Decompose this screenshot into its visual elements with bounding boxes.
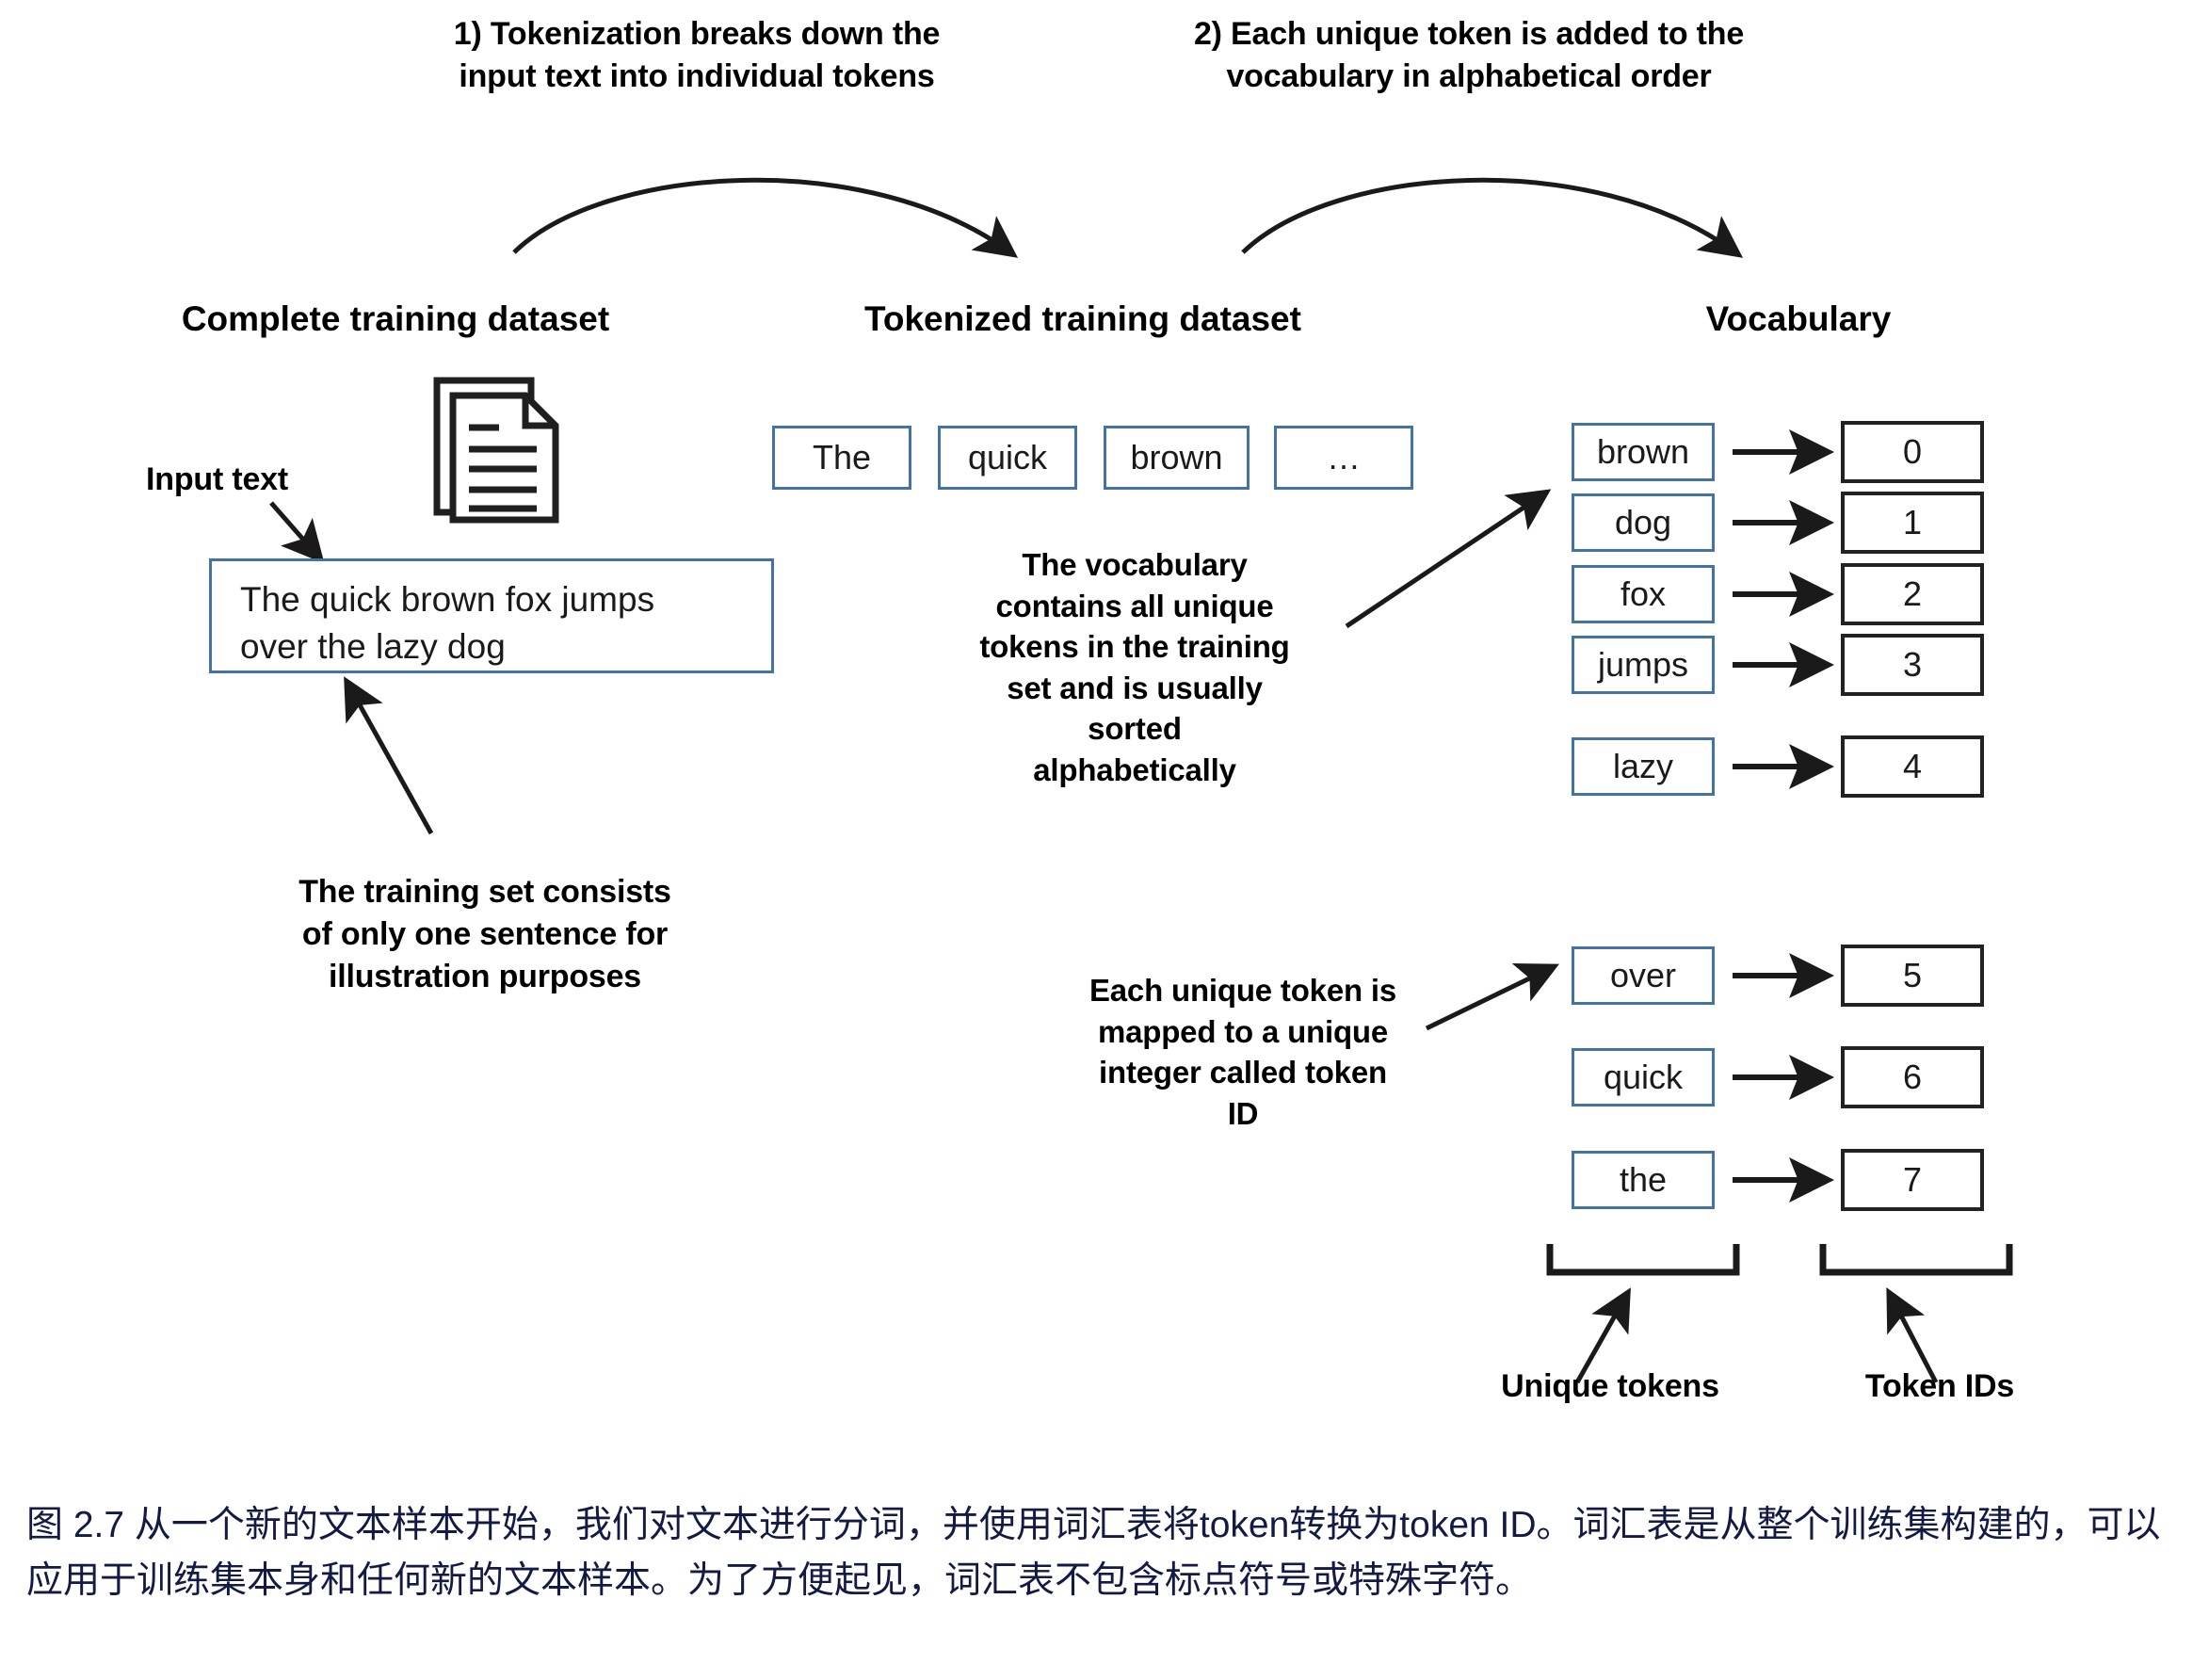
vocab-map-arrow <box>1731 506 1844 540</box>
vocab-map-arrow <box>1731 648 1844 682</box>
vocabulary-note-arrow <box>1332 466 1577 640</box>
token-id-box[interactable]: 0 <box>1841 421 1984 483</box>
token-ids-label: Token IDs <box>1817 1365 2062 1408</box>
token-id-note-arrow <box>1417 942 1587 1036</box>
vocab-map-arrow <box>1731 750 1844 783</box>
token-id-note: Each unique token is mapped to a unique … <box>1073 970 1412 1134</box>
complete-training-dataset-title: Complete training dataset <box>132 299 659 339</box>
flow-arrow-2 <box>1215 132 1817 301</box>
vocab-token-box[interactable]: dog <box>1572 493 1715 552</box>
token-chip[interactable]: brown <box>1104 426 1250 490</box>
token-chip[interactable]: The <box>772 426 911 490</box>
token-chip[interactable]: quick <box>938 426 1077 490</box>
tokenized-training-dataset-title: Tokenized training dataset <box>791 299 1375 339</box>
vocab-token-box[interactable]: jumps <box>1572 636 1715 694</box>
step-2-label: 2) Each unique token is added to the voc… <box>1158 13 1780 98</box>
vocab-token-box[interactable]: brown <box>1572 423 1715 481</box>
vocabulary-note: The vocabulary contains all unique token… <box>942 544 1328 790</box>
input-text-box[interactable]: The quick brown fox jumps over the lazy … <box>209 558 774 673</box>
vocab-map-arrow <box>1731 435 1844 469</box>
vocab-token-box[interactable]: over <box>1572 946 1715 1005</box>
vocab-map-arrow <box>1731 1163 1844 1197</box>
token-id-box[interactable]: 7 <box>1841 1149 1984 1211</box>
documents-icon <box>422 369 591 539</box>
vocab-token-box[interactable]: quick <box>1572 1048 1715 1107</box>
vocab-map-arrow <box>1731 1060 1844 1094</box>
vocab-token-box[interactable]: the <box>1572 1151 1715 1209</box>
token-id-box[interactable]: 1 <box>1841 492 1984 554</box>
token-ids-bracket <box>1817 1238 2024 1285</box>
token-id-box[interactable]: 2 <box>1841 563 1984 625</box>
vocabulary-title: Vocabulary <box>1601 299 1996 339</box>
figure-caption: 图 2.7 从一个新的文本样本开始，我们对文本进行分词，并使用词汇表将token… <box>26 1497 2192 1609</box>
token-id-box[interactable]: 3 <box>1841 634 1984 696</box>
vocab-map-arrow <box>1731 577 1844 611</box>
vocab-token-box[interactable]: fox <box>1572 565 1715 623</box>
figure-canvas: 1) Tokenization breaks down the input te… <box>0 0 2209 1680</box>
token-id-box[interactable]: 6 <box>1841 1046 1984 1108</box>
flow-arrow-1 <box>471 132 1073 301</box>
step-1-label: 1) Tokenization breaks down the input te… <box>405 13 989 98</box>
unique-tokens-label: Unique tokens <box>1459 1365 1761 1408</box>
vocab-map-arrow <box>1731 959 1844 993</box>
training-set-note: The training set consists of only one se… <box>250 871 720 998</box>
token-id-box[interactable]: 4 <box>1841 735 1984 798</box>
token-id-box[interactable]: 5 <box>1841 945 1984 1007</box>
unique-tokens-bracket <box>1544 1238 1751 1285</box>
vocab-token-box[interactable]: lazy <box>1572 737 1715 796</box>
training-set-note-arrow <box>320 673 471 862</box>
